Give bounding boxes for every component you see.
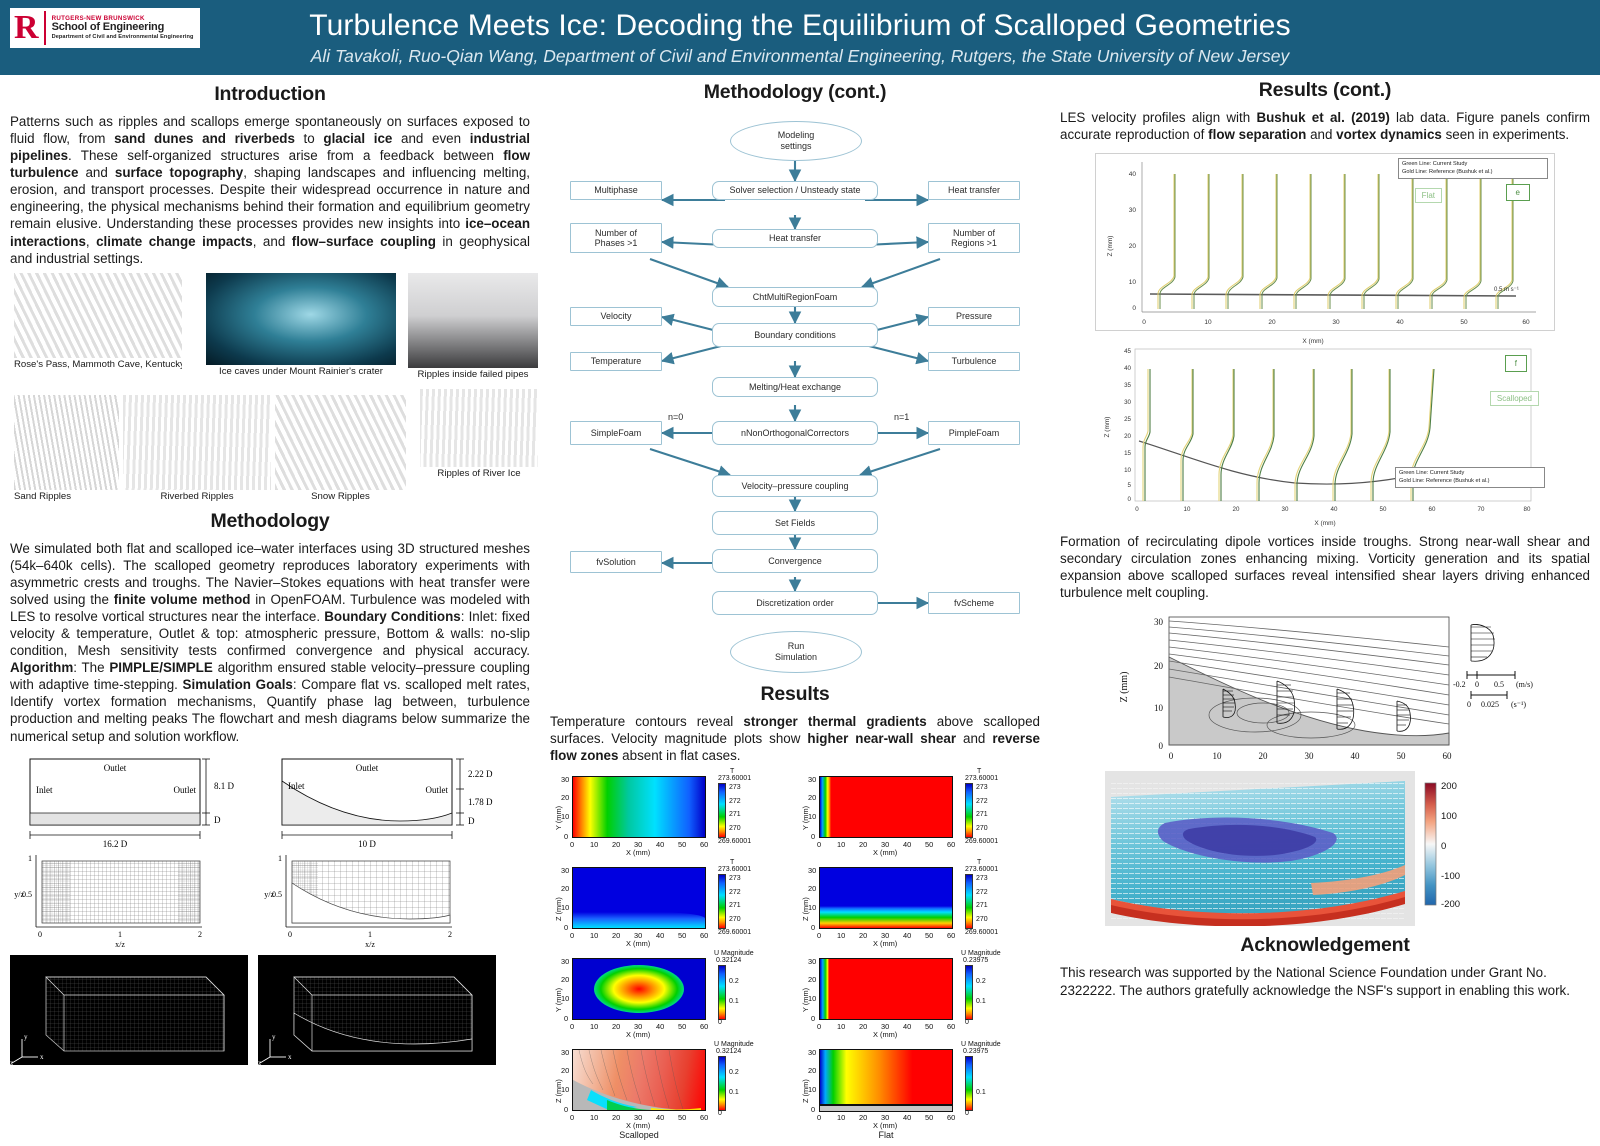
tick-y-10: 10 [808, 994, 816, 1003]
flow-node-label: Convergence [768, 556, 822, 566]
svg-text:0: 0 [1128, 496, 1132, 503]
colorbar-tick: 272 [976, 798, 988, 805]
colorbar-tick: 270 [729, 916, 741, 923]
acknowledgement-heading: Acknowledgement [1060, 934, 1590, 957]
rutgers-r-icon: R [14, 11, 46, 45]
results-cont-text-1: LES velocity profiles align with Bushuk … [1060, 109, 1590, 143]
svg-text:50: 50 [1380, 506, 1387, 513]
colorbar-tick: 272 [976, 889, 988, 896]
svg-text:60: 60 [1429, 506, 1436, 513]
tick-x-40: 40 [903, 1022, 911, 1031]
flow-node-label: Modelingsettings [778, 130, 815, 152]
svg-text:10: 10 [1184, 506, 1191, 513]
tick-x-20: 20 [859, 1022, 867, 1031]
results-contour-grid: Y (mm) 0 10 20 30 0 10 20 30 40 50 60 X … [550, 770, 1040, 1146]
colorbar-tick: 0.1 [976, 998, 986, 1005]
tick-x-10: 10 [590, 931, 598, 940]
figure-riverbed-ripples: Riverbed Ripples [123, 395, 271, 505]
tick-y-0: 0 [811, 832, 815, 841]
flow-node-convergence: Convergence [712, 549, 878, 573]
label-height-mid: 1.78 D [468, 797, 493, 807]
mesh-x-tick-2: 2 [448, 930, 452, 939]
svg-text:45: 45 [1124, 348, 1131, 355]
panel-f-case-label: Scalloped [1490, 391, 1539, 406]
flow-node-start: Modelingsettings [730, 121, 862, 161]
mesh-x-tick-1: 1 [118, 930, 122, 939]
contour-panel [572, 776, 706, 838]
flow-node-label: Solver selection / Unsteady state [729, 185, 860, 195]
colorbar-title: T [730, 768, 734, 775]
flow-node-label: PimpleFoam [949, 428, 1000, 438]
panel-f-tag: f [1505, 355, 1527, 372]
colorbar-title: U Magnitude [714, 950, 754, 957]
tick-x-20: 20 [612, 931, 620, 940]
tick-y-20: 20 [808, 975, 816, 984]
domain-geometry-svg: Outlet Inlet Outlet 8.1 D D 16.2 D Outle… [10, 751, 530, 1071]
contour-panel [572, 1049, 706, 1111]
colorbar-tick: 273 [976, 784, 988, 791]
flow-node-melting: Melting/Heat exchange [712, 377, 878, 397]
tick-y-20: 20 [561, 975, 569, 984]
figure-ice-caves: Ice caves under Mount Rainier's crater [206, 273, 396, 383]
flow-node-label: Heat transfer [769, 233, 821, 243]
introduction-heading: Introduction [10, 83, 530, 106]
tick-y-30: 30 [808, 866, 816, 875]
colorbar-tick: 0.2 [976, 978, 986, 985]
flow-node-label: nNonOrthogonalCorrectors [741, 428, 849, 438]
tick-x-40: 40 [903, 931, 911, 940]
tick-x-0: 0 [570, 931, 574, 940]
tick-x-40: 40 [656, 931, 664, 940]
label-width-scalloped: 10 D [358, 839, 376, 849]
tick-x-50: 50 [678, 931, 686, 940]
photo-riverbed-ripples [123, 395, 271, 490]
author-list: Ali Tavakoli, Ruo-Qian Wang, Department … [250, 46, 1350, 66]
figure-sand-ripples: Sand Ripples [14, 395, 119, 505]
temperature-colorbar [718, 874, 726, 929]
flow-node-label: Boundary conditions [754, 330, 836, 340]
mesh-y-tick-1: 1 [28, 854, 32, 863]
results-cont-text-2: Formation of recirculating dipole vortic… [1060, 533, 1590, 601]
axis-z: z [10, 1059, 13, 1067]
tick-x-40: 40 [656, 1022, 664, 1031]
colorbar-min: 0 [718, 1110, 722, 1117]
flow-node-label: RunSimulation [775, 641, 817, 663]
temperature-colorbar [718, 783, 726, 838]
contour-temp-xz-flat: Z (mm) 0 10 20 30 0 10 20 30 40 50 60 X … [797, 861, 1040, 949]
strain-scale-units: (s⁻¹) [1511, 700, 1526, 709]
tick-x-60: 60 [947, 1113, 955, 1122]
svg-text:10: 10 [1154, 703, 1164, 713]
tick-y-20: 20 [808, 1066, 816, 1075]
svg-text:50: 50 [1460, 319, 1468, 326]
tick-y-0: 0 [564, 923, 568, 932]
axis-label-x: X (mm) [626, 848, 650, 857]
flow-node-label: Pressure [956, 311, 992, 321]
vel-scale-zero: 0 [1475, 680, 1479, 689]
panel-e-case-label: Flat [1415, 188, 1442, 203]
svg-text:50: 50 [1397, 751, 1407, 761]
svg-text:0: 0 [1142, 319, 1146, 326]
panel-e-plot: 40 30 20 10 0 Z (mm) 0 10 20 30 40 50 60 [1096, 154, 1554, 330]
tick-x-60: 60 [947, 840, 955, 849]
solver-workflow-flowchart: Modelingsettings Solver selection / Unst… [550, 111, 1040, 611]
tick-x-20: 20 [859, 1113, 867, 1122]
vorticity-3d-plot: 200 100 0 -100 -200 [1105, 771, 1545, 926]
contour-panel [819, 867, 953, 929]
colorbar-tick: 0.1 [729, 1089, 739, 1096]
tick-x-10: 10 [590, 840, 598, 849]
label-height-flat: 8.1 D [214, 781, 235, 791]
colorbar-tick: 0 [1441, 841, 1446, 852]
colorbar-tick: 271 [729, 902, 741, 909]
mesh-y-tick-1: 1 [278, 854, 282, 863]
contour-temp-xz-scalloped: Z (mm) 0 10 20 30 0 10 20 30 40 50 60 X … [550, 861, 793, 949]
label-inlet: Inlet [288, 781, 305, 791]
flow-node-label: ChtMultiRegionFoam [753, 292, 838, 302]
figure-caption: Sand Ripples [14, 490, 119, 503]
svg-text:60: 60 [1443, 751, 1453, 761]
svg-text:0: 0 [1135, 506, 1139, 513]
figure-caption: Riverbed Ripples [123, 490, 271, 503]
introduction-text: Patterns such as ripples and scallops em… [10, 113, 530, 267]
label-outlet-top: Outlet [356, 763, 379, 773]
tick-y-0: 0 [564, 832, 568, 841]
axis-z: z [258, 1059, 261, 1067]
flow-node-nnonorthogonal: nNonOrthogonalCorrectors [712, 421, 878, 445]
flow-node-label: Turbulence [952, 356, 997, 366]
tick-y-30: 30 [808, 1048, 816, 1057]
contour-column-flat: Y (mm) 0 10 20 30 0 10 20 30 40 50 60 X … [797, 770, 1040, 1146]
axis-x: x [40, 1053, 44, 1061]
axis-y: y [272, 1033, 276, 1041]
photo-failed-pipes [408, 273, 538, 368]
svg-text:10: 10 [1124, 467, 1131, 474]
scale-label-e: 0.5 m s⁻¹ [1494, 287, 1519, 293]
axis-label-x: X (mm) [626, 1121, 650, 1130]
figure-caption: Snow Ripples [275, 490, 406, 503]
tick-x-50: 50 [925, 840, 933, 849]
page-title: Turbulence Meets Ice: Decoding the Equil… [250, 9, 1350, 43]
vortex-plot: Z (mm) 30 20 10 0 [1115, 607, 1535, 767]
tick-y-0: 0 [564, 1105, 568, 1114]
tick-x-50: 50 [678, 1113, 686, 1122]
vel-scale-min: -0.2 [1453, 680, 1466, 689]
colorbar-tick: 270 [729, 825, 741, 832]
tick-y-10: 10 [808, 1085, 816, 1094]
contour-umag-xy-flat: Y (mm) 0 10 20 30 0 10 20 30 40 50 60 X … [797, 952, 1040, 1040]
colorbar-min: 269.60001 [718, 929, 751, 936]
axis-label-x: X (mm) [626, 939, 650, 948]
flow-node-phases: Number ofPhases >1 [570, 223, 662, 253]
flow-node-label: Velocity–pressure coupling [741, 481, 848, 491]
tick-x-20: 20 [612, 840, 620, 849]
flow-node-label: Heat transfer [948, 185, 1000, 195]
flow-node-heat-transfer: Heat transfer [712, 229, 878, 248]
flow-node-simplefoam: SimpleFoam [570, 421, 662, 445]
tick-x-60: 60 [700, 1113, 708, 1122]
results-cont-heading: Results (cont.) [1060, 79, 1590, 102]
axis-label-x: X (mm) [873, 848, 897, 857]
colorbar-tick: 270 [976, 825, 988, 832]
svg-text:Z (mm): Z (mm) [1104, 417, 1111, 438]
photo-snow-ripples [275, 395, 406, 490]
colorbar-max: 0.32124 [716, 1048, 741, 1055]
photo-sand-ripples [14, 395, 119, 490]
svg-text:30: 30 [1282, 506, 1289, 513]
colorbar-max: 273.60001 [718, 866, 751, 873]
mesh-x-tick-2: 2 [198, 930, 202, 939]
tick-y-0: 0 [811, 923, 815, 932]
axis-x: x [288, 1053, 292, 1061]
vorticity-3d-figure: 200 100 0 -100 -200 [1105, 771, 1545, 926]
svg-text:35: 35 [1124, 382, 1131, 389]
figure-caption: Ice caves under Mount Rainier's crater [206, 365, 396, 378]
contour-column-scalloped: Y (mm) 0 10 20 30 0 10 20 30 40 50 60 X … [550, 770, 793, 1146]
mesh-x-axis-label: x/z [115, 940, 125, 949]
tick-x-0: 0 [570, 1113, 574, 1122]
tick-y-30: 30 [561, 866, 569, 875]
colorbar-min: 269.60001 [718, 838, 751, 845]
vel-scale-units: (m/s) [1516, 680, 1533, 689]
tick-x-50: 50 [925, 1113, 933, 1122]
flow-node-end: RunSimulation [730, 631, 862, 673]
colorbar-max: 0.32124 [716, 957, 741, 964]
flow-node-label: Number ofRegions >1 [951, 228, 997, 249]
tick-y-20: 20 [808, 793, 816, 802]
column-middle: Methodology (cont.) [540, 75, 1050, 1131]
svg-text:30: 30 [1124, 399, 1131, 406]
vortex-streamline-figure: Z (mm) 30 20 10 0 [1115, 607, 1535, 767]
tick-y-20: 20 [561, 884, 569, 893]
vel-scale-max: 0.5 [1494, 680, 1504, 689]
flow-node-velocity-pressure-coupling: Velocity–pressure coupling [712, 475, 878, 497]
tick-y-10: 10 [561, 903, 569, 912]
flow-node-heat-transfer-right: Heat transfer [928, 181, 1020, 200]
tick-x-60: 60 [700, 840, 708, 849]
svg-text:40: 40 [1351, 751, 1361, 761]
svg-text:20: 20 [1124, 433, 1131, 440]
tick-x-60: 60 [700, 1022, 708, 1031]
tick-y-30: 30 [808, 775, 816, 784]
label-outlet-top: Outlet [104, 763, 127, 773]
geometry-and-mesh-figures: Outlet Inlet Outlet 8.1 D D 16.2 D Outle… [10, 751, 530, 1076]
contour-umag-xz-flat: Z (mm) 0 10 20 30 0 10 20 30 40 50 60 X … [797, 1043, 1040, 1143]
vorticity-colorbar [1425, 783, 1436, 905]
colorbar-max: 273.60001 [965, 775, 998, 782]
svg-text:20: 20 [1154, 661, 1164, 671]
tick-x-20: 20 [612, 1022, 620, 1031]
flow-node-label: fvScheme [954, 598, 994, 608]
axis-label-x-f: X (mm) [1095, 520, 1555, 527]
flow-node-solver: Solver selection / Unsteady state [712, 181, 878, 200]
axis-label-x: X (mm) [626, 1030, 650, 1039]
svg-text:40: 40 [1129, 171, 1137, 178]
strain-scale-min: 0 [1467, 700, 1471, 709]
contour-panel [572, 958, 706, 1020]
logo-line-school: School of Engineering [52, 22, 194, 34]
tick-x-40: 40 [903, 840, 911, 849]
tick-x-20: 20 [612, 1113, 620, 1122]
tick-x-10: 10 [590, 1113, 598, 1122]
colorbar-title: T [730, 859, 734, 866]
tick-x-50: 50 [925, 931, 933, 940]
umag-colorbar [718, 1056, 726, 1111]
photo-ice-caves [206, 273, 396, 365]
figure-failed-pipes: Ripples inside failed pipes [408, 273, 538, 393]
tick-y-20: 20 [808, 884, 816, 893]
results-text: Temperature contours reveal stronger the… [550, 713, 1040, 764]
mesh-3d-scalloped: y x z [258, 955, 496, 1067]
colorbar-max: 0.23975 [963, 957, 988, 964]
flow-node-label: Multiphase [594, 185, 638, 195]
svg-text:30: 30 [1129, 207, 1137, 214]
svg-text:20: 20 [1233, 506, 1240, 513]
tick-x-0: 0 [817, 840, 821, 849]
contour-panel [819, 958, 953, 1020]
introduction-figure-grid: Rose's Pass, Mammoth Cave, Kentucky, USA… [10, 273, 530, 508]
tick-x-0: 0 [817, 1022, 821, 1031]
rutgers-logo: R RUTGERS-NEW BRUNSWICK School of Engine… [10, 8, 200, 48]
umag-colorbar [965, 965, 973, 1020]
axis-label-x: X (mm) [873, 1121, 897, 1130]
tick-x-50: 50 [925, 1022, 933, 1031]
legend-line-green: Green Line: Current Study [1402, 161, 1544, 169]
svg-text:30: 30 [1332, 319, 1340, 326]
colorbar-tick: 272 [729, 889, 741, 896]
figure-river-ice-ripples: Ripples of River Ice [420, 389, 538, 489]
colorbar-tick: 0.1 [729, 998, 739, 1005]
panel-e-legend: Green Line: Current Study Gold Line: Ref… [1398, 158, 1548, 179]
contour-temp-xy-scalloped: Y (mm) 0 10 20 30 0 10 20 30 40 50 60 X … [550, 770, 793, 858]
svg-text:20: 20 [1129, 243, 1137, 250]
colorbar-tick: 0.2 [729, 978, 739, 985]
figure-caption: Ripples inside failed pipes [408, 368, 538, 381]
colorbar-tick: 270 [976, 916, 988, 923]
svg-text:0: 0 [1169, 751, 1174, 761]
column-left: Introduction Patterns such as ripples an… [0, 75, 540, 1131]
flow-node-label: fvSolution [596, 557, 636, 567]
contour-column-caption: Scalloped [572, 1130, 706, 1140]
methodology-cont-heading: Methodology (cont.) [550, 81, 1040, 104]
contour-panel [819, 776, 953, 838]
flow-node-pressure: Pressure [928, 307, 1020, 326]
tick-y-30: 30 [561, 775, 569, 784]
colorbar-tick: 271 [976, 902, 988, 909]
mesh-y-axis-label: y/z [264, 890, 274, 899]
tick-x-10: 10 [837, 1022, 845, 1031]
panel-f-plot: X (mm) 45 40 35 30 25 20 15 10 5 0 Z (mm… [1095, 335, 1553, 521]
tick-y-30: 30 [561, 1048, 569, 1057]
colorbar-min: 269.60001 [965, 929, 998, 936]
svg-text:60: 60 [1522, 319, 1530, 326]
colorbar-tick: -200 [1441, 899, 1460, 910]
contour-temp-xy-flat: Y (mm) 0 10 20 30 0 10 20 30 40 50 60 X … [797, 770, 1040, 858]
svg-text:40: 40 [1331, 506, 1338, 513]
colorbar-tick: 200 [1441, 781, 1457, 792]
svg-text:70: 70 [1478, 506, 1485, 513]
mesh-x-tick-1: 1 [368, 930, 372, 939]
tick-x-10: 10 [837, 840, 845, 849]
flow-node-temperature: Temperature [570, 352, 662, 371]
mesh-x-tick-0: 0 [288, 930, 292, 939]
strain-scale-max: 0.025 [1481, 700, 1499, 709]
colorbar-max: 0.23975 [963, 1048, 988, 1055]
poster-header: R RUTGERS-NEW BRUNSWICK School of Engine… [0, 0, 1600, 75]
column-right: Results (cont.) LES velocity profiles al… [1050, 75, 1600, 1131]
svg-text:10: 10 [1129, 279, 1137, 286]
svg-text:80: 80 [1524, 506, 1531, 513]
tick-x-0: 0 [570, 1022, 574, 1031]
svg-text:10: 10 [1204, 319, 1212, 326]
acknowledgement-text: This research was supported by the Natio… [1060, 964, 1590, 998]
label-height-top: 2.22 D [468, 769, 493, 779]
legend-line-gold: Gold Line: Reference (Bushuk et al.) [1399, 478, 1541, 486]
figure-snow-ripples: Snow Ripples [275, 395, 406, 505]
colorbar-tick: 0.1 [976, 1089, 986, 1096]
mesh-x-axis-label: x/z [365, 940, 375, 949]
figure-caption: Ripples of River Ice [420, 467, 538, 480]
tick-x-40: 40 [903, 1113, 911, 1122]
contour-column-caption: Flat [819, 1130, 953, 1140]
svg-text:40: 40 [1124, 365, 1131, 372]
flow-node-label: SimpleFoam [591, 428, 642, 438]
tick-y-10: 10 [808, 812, 816, 821]
mesh-y-axis-label: y/z [14, 890, 24, 899]
axis-label-x: X (mm) [873, 939, 897, 948]
mesh-3d-flat: y x z [10, 955, 248, 1067]
velocity-profile-panel-e: 40 30 20 10 0 Z (mm) 0 10 20 30 40 50 60 [1095, 153, 1555, 331]
label-inlet: Inlet [36, 785, 53, 795]
label-outlet-right: Outlet [174, 785, 197, 795]
flow-edge-label-right: n=1 [894, 412, 909, 422]
svg-text:10: 10 [1213, 751, 1223, 761]
label-d-scalloped: D [468, 816, 475, 826]
umag-colorbar [965, 1056, 973, 1111]
flow-node-regions: Number ofRegions >1 [928, 223, 1020, 253]
svg-text:5: 5 [1128, 482, 1132, 489]
flow-node-label: Set Fields [775, 518, 815, 528]
tick-y-10: 10 [561, 994, 569, 1003]
colorbar-tick: 0.2 [729, 1069, 739, 1076]
contour-wall-band [819, 1105, 953, 1112]
colorbar-min: 0 [965, 1019, 969, 1026]
tick-y-30: 30 [561, 957, 569, 966]
flow-node-label: Number ofPhases >1 [595, 228, 638, 249]
figure-mammoth-cave: Rose's Pass, Mammoth Cave, Kentucky, USA [14, 273, 182, 373]
tick-x-20: 20 [859, 840, 867, 849]
contour-panel [819, 1049, 953, 1105]
colorbar-title: U Magnitude [961, 950, 1001, 957]
flow-node-pimplefoam: PimpleFoam [928, 421, 1020, 445]
logo-line-department: Department of Civil and Environmental En… [52, 34, 194, 40]
label-width-flat: 16.2 D [103, 839, 128, 849]
colorbar-max: 273.60001 [718, 775, 751, 782]
tick-x-0: 0 [570, 840, 574, 849]
contour-panel [572, 867, 706, 929]
label-outlet-right: Outlet [426, 785, 449, 795]
tick-x-10: 10 [590, 1022, 598, 1031]
contour-umag-xy-scalloped: Y (mm) 0 10 20 30 0 10 20 30 40 50 60 X … [550, 952, 793, 1040]
colorbar-tick: 271 [729, 811, 741, 818]
axis-label-x: X (mm) [873, 1030, 897, 1039]
svg-text:0: 0 [1132, 305, 1136, 312]
mesh-x-tick-0: 0 [38, 930, 42, 939]
colorbar-min: 0 [718, 1019, 722, 1026]
flow-node-discretization: Discretization order [712, 591, 878, 615]
flow-node-set-fields: Set Fields [712, 511, 878, 535]
tick-y-30: 30 [808, 957, 816, 966]
